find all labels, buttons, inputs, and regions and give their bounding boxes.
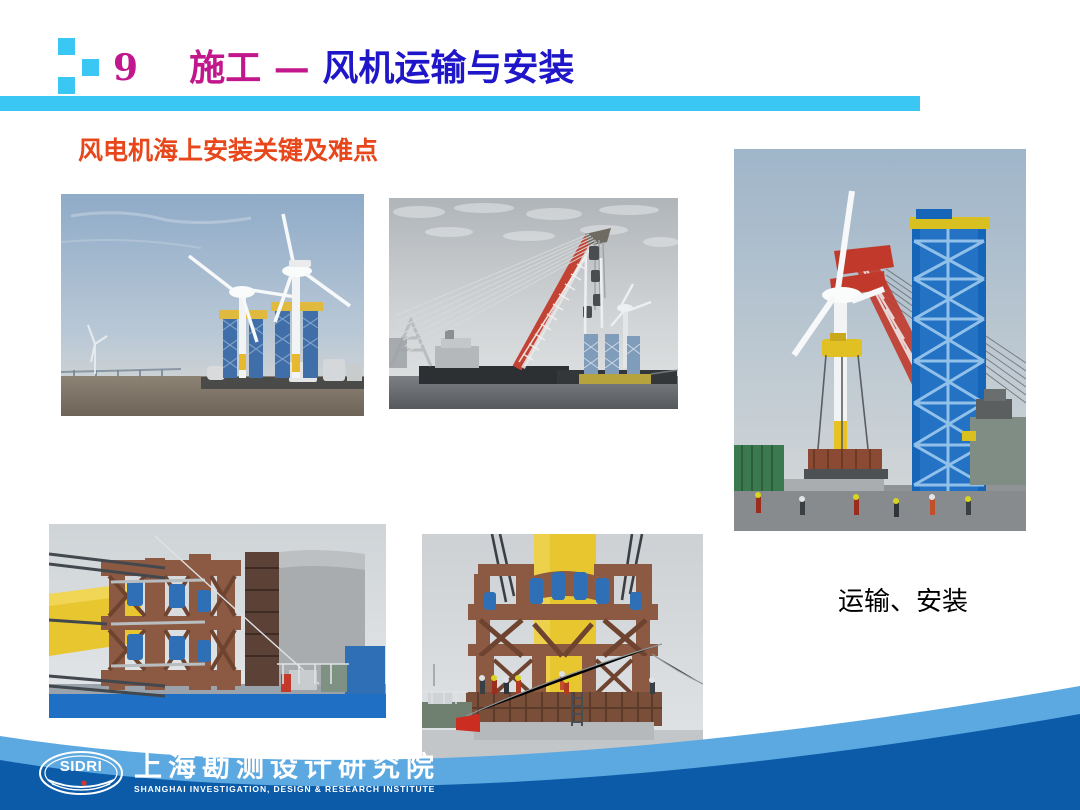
header-divider [0,96,920,111]
page-title: 9 施工 — 风机运输与安装 [113,44,574,92]
logo-name-cn: 上海勘测设计研究院 [134,753,440,781]
square-icon [58,77,75,94]
title-dash: — [274,47,310,89]
title-segment-en: 风机运输与安装 [322,47,574,89]
photo-turbine-lift [734,149,1026,531]
title-number: 9 [113,47,139,89]
title-segment-cn: 施工 [189,47,261,89]
slide: 9 施工 — 风机运输与安装 风电机海上安装关键及难点 [0,0,1080,810]
sidri-badge-icon: SIDRI [38,750,124,796]
svg-text:SIDRI: SIDRI [60,758,103,775]
section-subtitle: 风电机海上安装关键及难点 [78,131,378,167]
square-icon [58,38,75,55]
photo-gripper-front [422,534,703,762]
square-icon [82,59,99,76]
decorative-squares [58,38,118,94]
photo-caption: 运输、安装 [838,581,968,618]
photo-turbines [61,194,364,416]
organization-logo: SIDRI 上海勘测设计研究院 SHANGHAI INVESTIGATION, … [38,742,438,804]
photo-gripper-side [49,524,386,718]
logo-name-en: SHANGHAI INVESTIGATION, DESIGN & RESEARC… [134,785,440,794]
photo-crane-vessel [389,198,678,409]
